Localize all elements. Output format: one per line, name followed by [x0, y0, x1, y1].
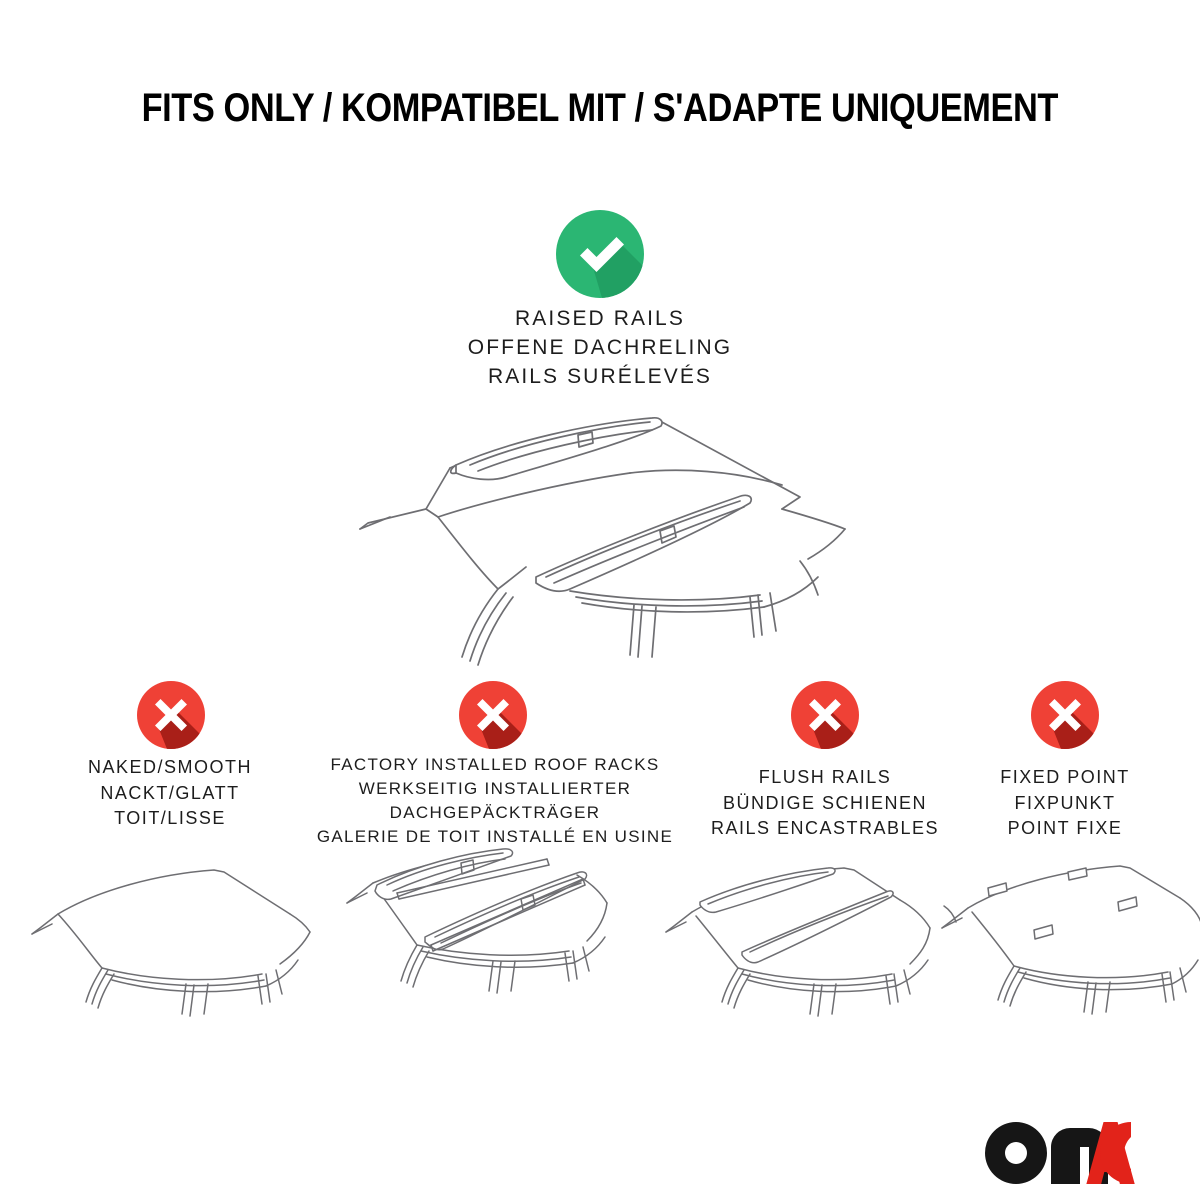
incompatible-label-naked-smooth: NAKED/SMOOTH NACKT/GLATT TOIT/LISSE	[35, 755, 305, 832]
compatible-label-line-3: RAILS SURÉLEVÉS	[300, 363, 900, 392]
cross-circle-icon	[459, 681, 527, 749]
car-roof-raised-rails-illustration	[330, 405, 900, 675]
label-line-2: BÜNDIGE SCHIENEN	[690, 791, 960, 817]
car-roof-factory-racks-illustration	[325, 843, 655, 1038]
car-roof-naked-smooth-illustration	[18, 862, 318, 1047]
logo-letter-o	[985, 1122, 1047, 1184]
label-line-3: TOIT/LISSE	[35, 806, 305, 832]
compatible-label-line-2: OFFENE DACHRELING	[300, 334, 900, 363]
car-roof-flush-rails-illustration	[648, 862, 958, 1047]
label-line-1: NAKED/SMOOTH	[35, 755, 305, 781]
label-line-3: POINT FIXE	[950, 816, 1180, 842]
cross-circle-icon	[791, 681, 859, 749]
check-circle-icon	[556, 210, 644, 298]
incompatible-label-fixed-point: FIXED POINT FIXPUNKT POINT FIXE	[950, 765, 1180, 842]
label-line-3: RAILS ENCASTRABLES	[690, 816, 960, 842]
label-line-1: FLUSH RAILS	[690, 765, 960, 791]
label-line-3: DACHGEPÄCKTRÄGER	[300, 801, 690, 825]
page-title: FITS ONLY / KOMPATIBEL MIT / S'ADAPTE UN…	[0, 86, 1200, 131]
incompatible-label-factory-racks: FACTORY INSTALLED ROOF RACKS WERKSEITIG …	[300, 753, 690, 850]
label-line-2: WERKSEITIG INSTALLIERTER	[300, 777, 690, 801]
label-line-2: FIXPUNKT	[950, 791, 1180, 817]
page-title-text: FITS ONLY / KOMPATIBEL MIT / S'ADAPTE UN…	[142, 86, 1058, 131]
label-line-2: NACKT/GLATT	[35, 781, 305, 807]
cross-circle-icon	[137, 681, 205, 749]
omac-logo	[985, 1122, 1155, 1184]
cross-circle-icon	[1031, 681, 1099, 749]
incompatible-label-flush-rails: FLUSH RAILS BÜNDIGE SCHIENEN RAILS ENCAS…	[690, 765, 960, 842]
label-line-1: FIXED POINT	[950, 765, 1180, 791]
label-line-1: FACTORY INSTALLED ROOF RACKS	[300, 753, 690, 777]
car-roof-fixed-point-illustration	[928, 862, 1200, 1047]
compatible-label: RAISED RAILS OFFENE DACHRELING RAILS SUR…	[300, 305, 900, 392]
compatible-label-line-1: RAISED RAILS	[300, 305, 900, 334]
